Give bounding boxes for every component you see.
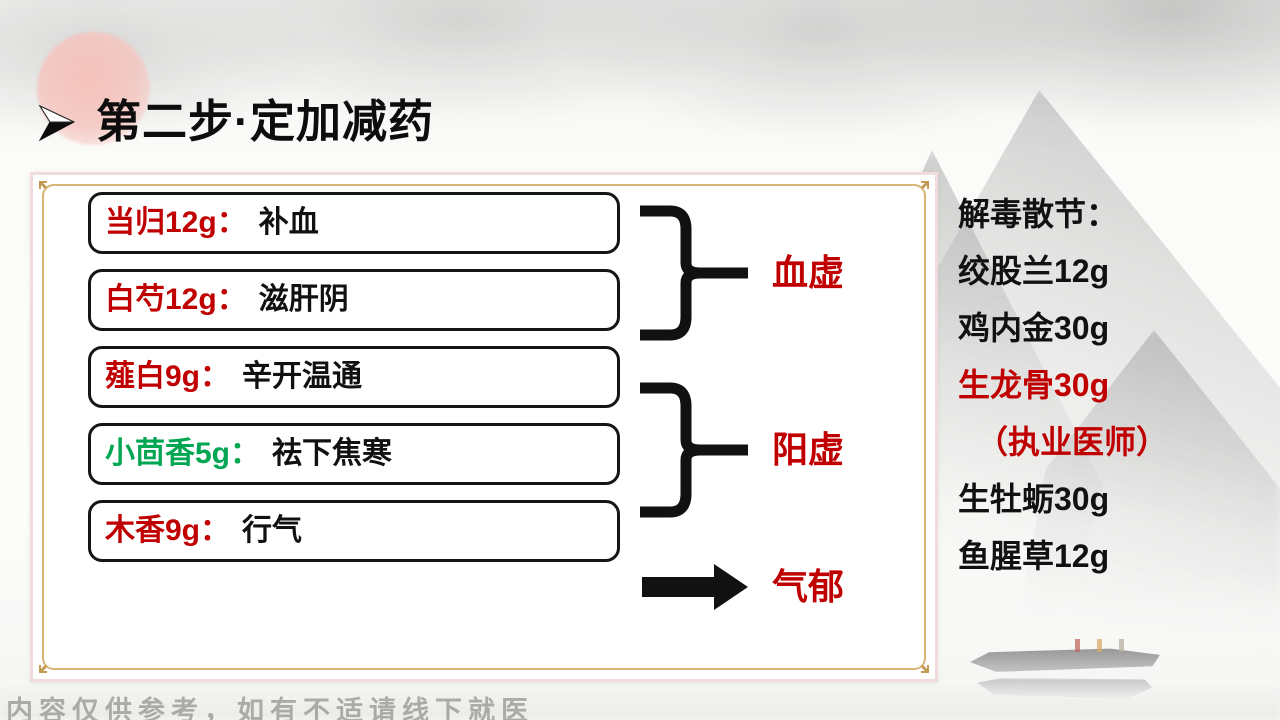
herb-name: 薤白9g bbox=[105, 362, 200, 392]
herb-effect: 滋肝阴 bbox=[259, 285, 349, 315]
side-list-item: 绞股兰12g bbox=[958, 255, 1258, 287]
corner-ornament-icon bbox=[910, 654, 930, 674]
syndrome-label: 气郁 bbox=[772, 569, 844, 605]
arrow-bullet-icon bbox=[34, 98, 80, 144]
herb-effect: 行气 bbox=[242, 516, 302, 546]
syndrome-group: 阳虚 bbox=[640, 382, 844, 518]
prescription-row-list: 当归12g ： 补血 白芍12g ： 滋肝阴 薤白9g ： 辛开温通 小茴香5g… bbox=[88, 192, 620, 577]
herb-effect: 祛下焦寒 bbox=[272, 439, 392, 469]
syndrome-label: 阳虚 bbox=[772, 432, 844, 468]
syndrome-group: 血虚 bbox=[640, 205, 844, 341]
slide-canvas: 第二步·定加减药 当归12g ： 补血 白芍12g ： 滋肝阴 薤白9g bbox=[0, 0, 1280, 720]
side-list-item: 鸡内金30g bbox=[958, 312, 1258, 344]
prescription-row[interactable]: 小茴香5g ： 祛下焦寒 bbox=[88, 423, 620, 485]
side-list-heading: 解毒散节： bbox=[958, 198, 1258, 230]
herb-name: 小茴香5g bbox=[105, 439, 230, 469]
prescription-row[interactable]: 木香9g ： 行气 bbox=[88, 500, 620, 562]
arrow-icon bbox=[640, 558, 750, 616]
herb-effect: 补血 bbox=[259, 208, 319, 238]
herb-effect: 辛开温通 bbox=[242, 362, 362, 392]
corner-ornament-icon bbox=[910, 180, 930, 200]
side-list-item-note: （执业医师） bbox=[958, 426, 1258, 458]
herb-name: 白芍12g bbox=[105, 285, 217, 315]
herb-name: 当归12g bbox=[105, 208, 217, 238]
side-list-item: 生牡蛎30g bbox=[958, 483, 1258, 515]
page-title-row: 第二步·定加减药 bbox=[34, 98, 434, 144]
corner-ornament-icon bbox=[38, 180, 58, 200]
syndrome-label: 血虚 bbox=[772, 255, 844, 291]
herb-separator: ： bbox=[217, 285, 247, 315]
herb-separator: ： bbox=[230, 439, 260, 469]
page-title: 第二步·定加减药 bbox=[96, 99, 434, 144]
prescription-row[interactable]: 白芍12g ： 滋肝阴 bbox=[88, 269, 620, 331]
herb-separator: ： bbox=[200, 516, 230, 546]
herb-name: 木香9g bbox=[105, 516, 200, 546]
disclaimer-text: 内容仅供参考，如有不适请线下就医 bbox=[6, 689, 534, 720]
prescription-row[interactable]: 薤白9g ： 辛开温通 bbox=[88, 346, 620, 408]
side-herb-list: 解毒散节： 绞股兰12g 鸡内金30g 生龙骨30g （执业医师） 生牡蛎30g… bbox=[958, 198, 1258, 597]
boat-flags-decoration bbox=[1075, 638, 1137, 652]
side-list-item: 鱼腥草12g bbox=[958, 540, 1258, 572]
prescription-row[interactable]: 当归12g ： 补血 bbox=[88, 192, 620, 254]
brace-icon bbox=[640, 382, 750, 518]
syndrome-group: 气郁 bbox=[640, 558, 844, 616]
herb-separator: ： bbox=[217, 208, 247, 238]
brace-icon bbox=[640, 205, 750, 341]
side-list-item: 生龙骨30g bbox=[958, 369, 1258, 401]
herb-separator: ： bbox=[200, 362, 230, 392]
corner-ornament-icon bbox=[38, 654, 58, 674]
